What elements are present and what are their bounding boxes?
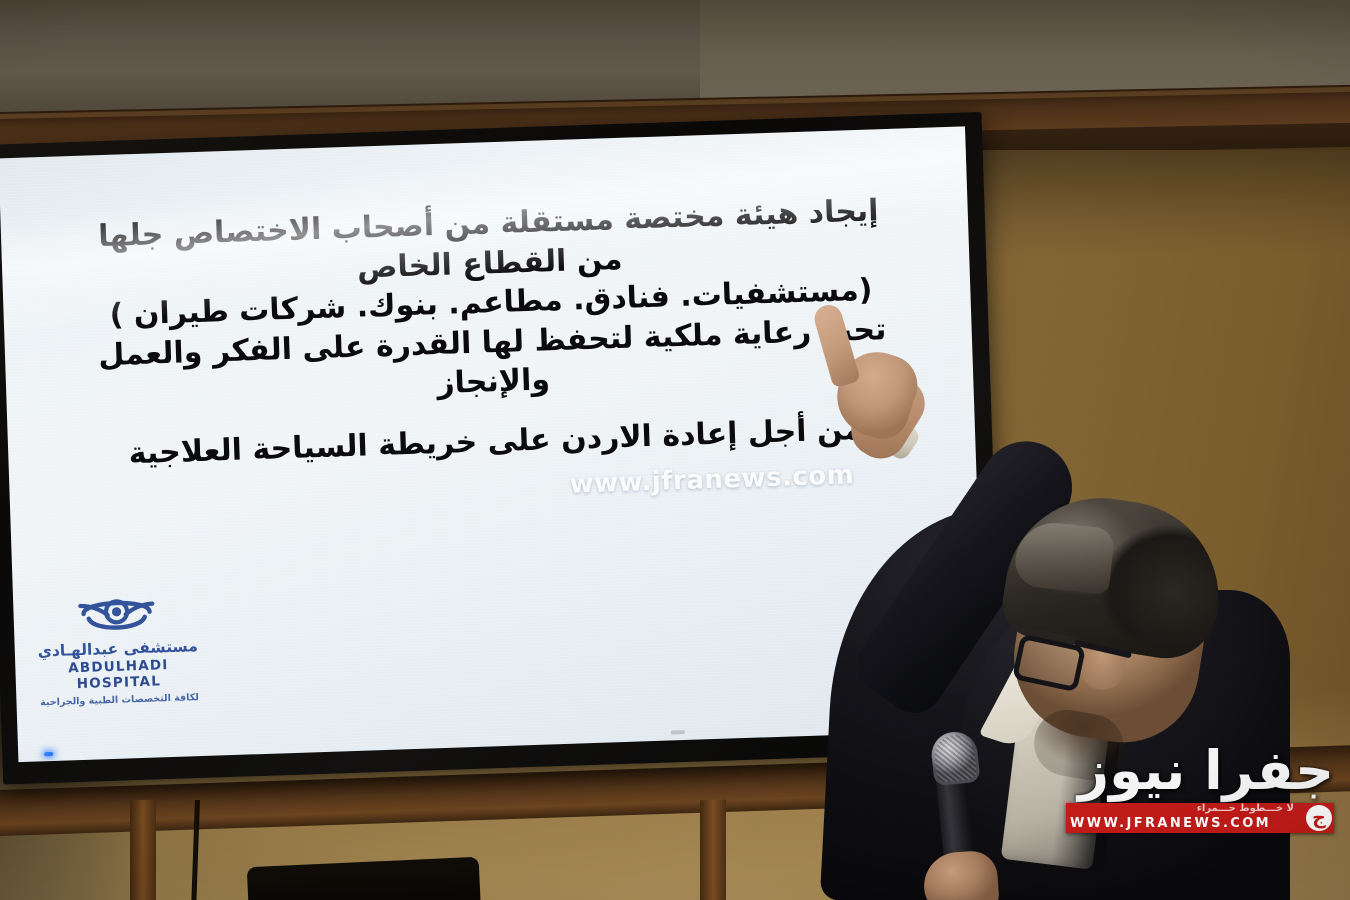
lower-wall-post-right — [700, 800, 726, 900]
hospital-name-english: ABDULHADI HOSPITAL — [23, 656, 214, 694]
slide-watermark: www.jfranews.com — [569, 460, 855, 499]
jfranews-url: WWW.JFRANEWS.COM — [1070, 816, 1271, 831]
screen-ir-sensor — [671, 730, 685, 734]
jfranews-monogram-icon: ج — [1306, 805, 1332, 831]
eye-logo-icon — [21, 588, 212, 638]
photo-scene: إيجاد هيئة مختصة مستقلة من أصحاب الاختصا… — [0, 0, 1350, 900]
hospital-tagline: لكافة التخصصات الطبية والجراحية — [24, 692, 214, 710]
hospital-logo: مستشفى عبدالهـادي ABDULHADI HOSPITAL لكا… — [21, 588, 215, 710]
slide-body-text: إيجاد هيئة مختصة مستقلة من أصحاب الاختصا… — [30, 189, 953, 477]
jfranews-slogan: لا خـــطوط حـــمراء — [1197, 803, 1294, 814]
screen-power-led — [44, 752, 53, 756]
jfranews-name: جفرا نيوز — [1066, 744, 1334, 798]
jfranews-red-bar: لا خـــطوط حـــمراء WWW.JFRANEWS.COM ج — [1066, 803, 1334, 833]
jfranews-logo: جفرا نيوز لا خـــطوط حـــمراء WWW.JFRANE… — [1066, 744, 1334, 833]
lower-wall-post-left — [130, 800, 156, 900]
